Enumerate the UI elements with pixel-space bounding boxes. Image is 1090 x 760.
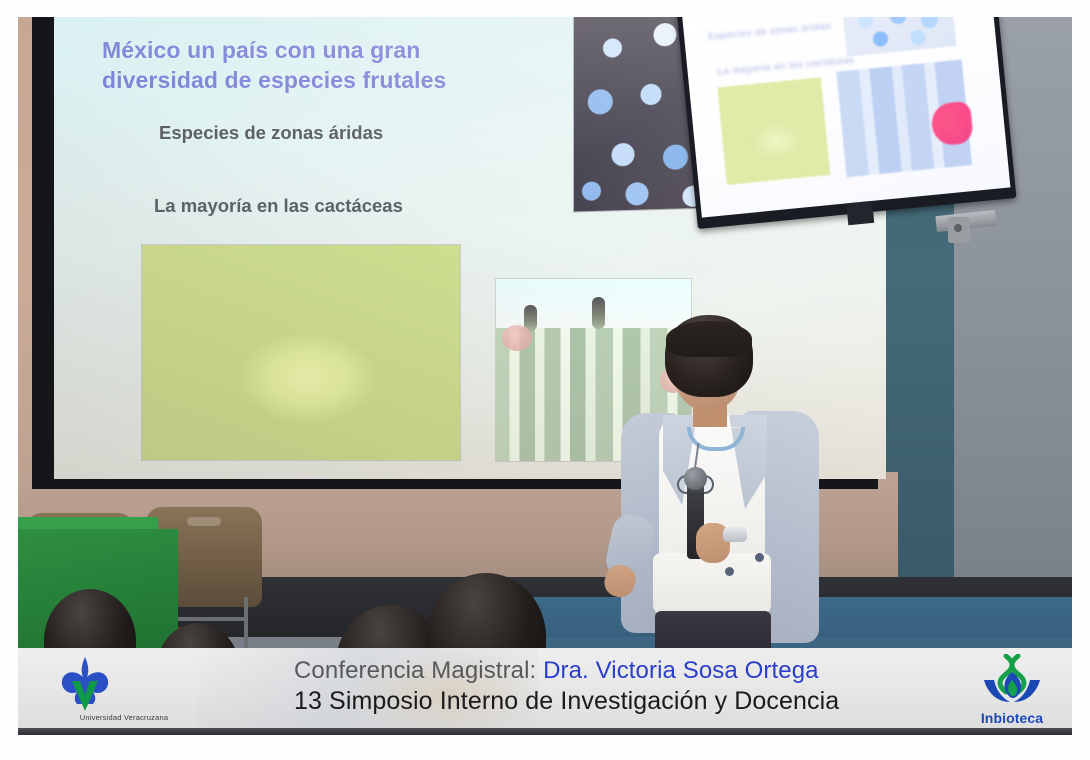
display-text-line2: La mayoría en las cactáceas: [717, 55, 855, 77]
inbioteca-logo-caption: Inbioteca: [962, 710, 1062, 726]
banner-bottom-strip: [18, 728, 1072, 735]
banner-speaker-name: Dra. Victoria Sosa Ortega: [543, 657, 819, 684]
universidad-veracruzana-logo: Universidad Veracruzana: [38, 655, 132, 731]
display-berries-photo: [842, 17, 956, 57]
slide-title: México un país con una gran diversidad d…: [102, 35, 502, 96]
banner-line-1: Conferencia Magistral: Dra. Victoria Sos…: [294, 656, 914, 686]
slide-bullet-2: La mayoría en las cactáceas: [154, 195, 574, 217]
conference-photograph: México un país con una gran diversidad d…: [18, 17, 1072, 735]
uv-fleur-de-lis-icon: [38, 655, 132, 715]
presenter-hair-front: [666, 321, 752, 357]
display-stand: [846, 201, 874, 225]
display-mount-plate: [948, 217, 970, 243]
jacket-button: [755, 553, 764, 562]
display-prickly-pear-photo: [717, 77, 830, 185]
wall-mounted-display: Especies de zonas áridas La mayoría en l…: [676, 17, 1017, 229]
slide-title-line2: diversidad de especies frutales: [102, 65, 502, 95]
uv-logo-caption: Universidad Veracruzana: [58, 713, 190, 722]
inbioteca-dna-leaf-icon: [966, 654, 1058, 710]
slide-bullet-1: Especies de zonas áridas: [159, 122, 579, 144]
slide-title-line1: México un país con una gran: [102, 35, 502, 65]
prickly-pear-photo: [142, 245, 460, 460]
chair-leg: [244, 597, 248, 653]
cactus-fruit: [502, 325, 532, 351]
display-screen: Especies de zonas áridas La mayoría en l…: [681, 17, 1010, 218]
banner-line-2: 13 Simposio Interno de Investigación y D…: [294, 686, 914, 717]
banner-text-block: Conferencia Magistral: Dra. Victoria Sos…: [294, 656, 914, 717]
presenter-wristwatch: [723, 527, 747, 542]
display-text-line1: Especies de zonas áridas: [708, 21, 832, 42]
chair-handle-slot: [187, 517, 221, 526]
photo-frame: México un país con una gran diversidad d…: [0, 0, 1090, 760]
presenter: [603, 315, 843, 655]
banner-label: Conferencia Magistral:: [294, 657, 543, 684]
microphone-head: [684, 467, 707, 490]
jacket-button: [725, 567, 734, 576]
inbioteca-logo: Inbioteca: [966, 654, 1058, 732]
